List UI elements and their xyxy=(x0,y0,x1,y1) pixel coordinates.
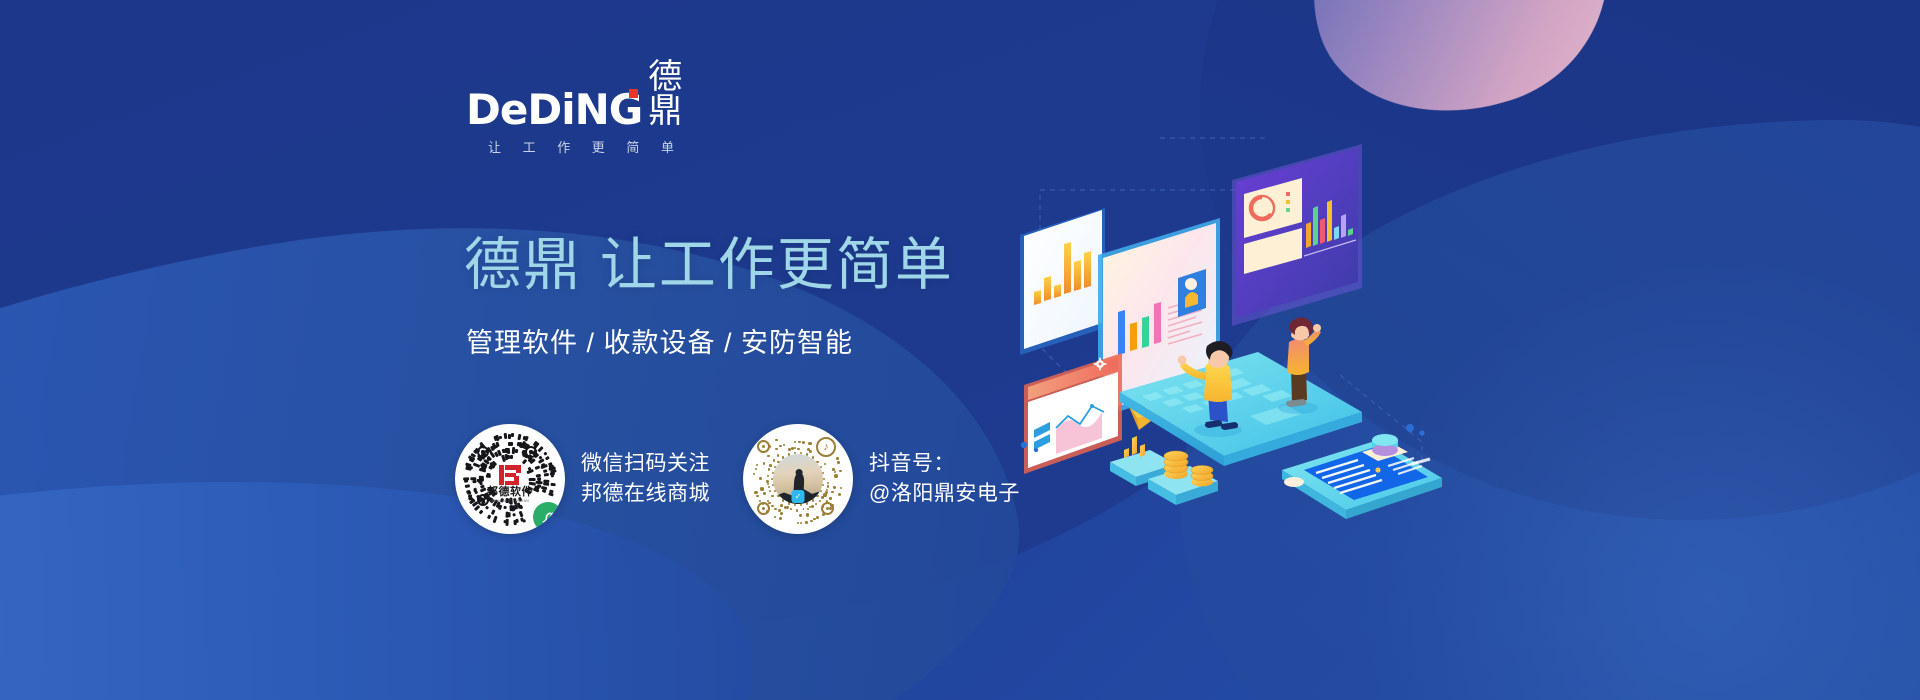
logo-chinese-text: 德鼎 xyxy=(648,60,696,130)
qr-dash xyxy=(486,505,490,509)
qr-dot xyxy=(754,491,757,494)
qr-dash xyxy=(543,452,547,456)
qr-dot xyxy=(755,468,757,470)
qr-dash xyxy=(551,474,554,477)
qr-dot xyxy=(780,504,783,507)
qr-dot xyxy=(811,505,814,508)
qr-finder-pattern xyxy=(525,446,537,458)
qr-dash xyxy=(499,435,502,439)
brand-logo: DeDiNG 德鼎 让 工 作 更 简 单 xyxy=(466,88,696,156)
qr-dot xyxy=(756,495,758,497)
qr-dot xyxy=(824,463,826,465)
qr-dot xyxy=(799,514,802,517)
qr-dot xyxy=(797,448,800,451)
qr-dot xyxy=(827,482,829,484)
qr-dot xyxy=(834,474,837,477)
qr-dot xyxy=(768,468,771,471)
qr-dot xyxy=(809,450,812,453)
qr-dash xyxy=(548,492,553,496)
qr-dot xyxy=(836,457,839,460)
qr-dot xyxy=(769,464,772,467)
qr-dot xyxy=(823,493,826,496)
qr-dot xyxy=(763,462,765,464)
qr-inner-dot xyxy=(823,478,826,481)
qr-code-group: 邦德软件 BANGDE RUANJIAN 微信扫码关注 邦德在线商城 ♪ xyxy=(455,424,1020,534)
qr-dot xyxy=(794,441,796,443)
qr-dot xyxy=(767,475,770,478)
qr-dash xyxy=(496,442,500,447)
qr-dash xyxy=(506,512,509,518)
qr-dash xyxy=(543,469,547,472)
qr-dot xyxy=(794,447,796,449)
qr-dot xyxy=(813,518,815,520)
qr-dot xyxy=(773,459,775,461)
qr-dot xyxy=(839,470,842,473)
douyin-note-icon: ♪ xyxy=(816,437,836,457)
qr-dot xyxy=(753,473,755,475)
qr-dot xyxy=(803,508,805,510)
qr-finder-pattern xyxy=(477,446,489,458)
qr-dot xyxy=(775,439,778,442)
qr-dash xyxy=(519,510,523,517)
qr-dot xyxy=(798,441,800,443)
bar-chart-card xyxy=(1020,208,1105,355)
qr-dot xyxy=(807,508,809,510)
qr-dot xyxy=(759,477,762,480)
qr-dot xyxy=(816,516,819,519)
qr-dot xyxy=(806,513,809,516)
qr-dot xyxy=(760,487,763,490)
qr-dot xyxy=(777,454,780,457)
qr-dash xyxy=(470,478,476,481)
wechat-caption-line1: 微信扫码关注 xyxy=(581,449,710,479)
qr-dot xyxy=(838,493,841,496)
qr-dot xyxy=(831,491,834,494)
qr-dot xyxy=(827,485,830,488)
qr-dash xyxy=(524,436,528,442)
qr-dash xyxy=(473,487,477,490)
promo-banner: DeDiNG 德鼎 让 工 作 更 简 单 德鼎 让工作更简单 管理软件 / 收… xyxy=(0,0,1920,700)
qr-dot xyxy=(790,508,792,510)
douyin-qr-caption: 抖音号： @洛阳鼎安电子 xyxy=(869,449,1020,509)
hero-headline: 德鼎 让工作更简单 xyxy=(464,237,954,294)
qr-dot xyxy=(783,444,785,446)
qr-dot xyxy=(771,505,774,508)
qr-dash xyxy=(522,459,527,465)
qr-dash xyxy=(487,514,491,519)
hero-subheadline: 管理软件 / 收款设备 / 安防智能 xyxy=(466,330,853,357)
qr-dot xyxy=(808,442,811,445)
qr-dot xyxy=(834,471,836,473)
qr-dot xyxy=(767,455,770,458)
hero-illustration xyxy=(1010,130,1450,530)
qr-dash xyxy=(510,441,513,445)
qr-dot xyxy=(805,521,808,524)
douyin-qr-code[interactable]: ♪ ✓ xyxy=(743,424,853,534)
qr-dash xyxy=(473,480,477,483)
qr-dot xyxy=(767,483,769,485)
qr-dot xyxy=(837,461,839,463)
qr-dot xyxy=(833,486,835,488)
qr-dot xyxy=(768,486,770,488)
bangde-logo-pinyin: BANGDE RUANJIAN xyxy=(481,500,539,503)
verified-badge-icon: ✓ xyxy=(792,490,805,503)
qr-finder-pattern xyxy=(757,440,770,453)
qr-dash xyxy=(515,448,518,453)
qr-dash xyxy=(542,489,546,493)
coin-pile-left xyxy=(1164,451,1188,479)
qr-dash xyxy=(541,464,548,469)
qr-dot xyxy=(774,508,776,510)
qr-block-douyin[interactable]: ♪ ✓ 抖音号： @洛阳鼎安电子 xyxy=(743,424,1020,534)
qr-dash xyxy=(513,513,516,517)
logo-red-dot xyxy=(629,89,638,98)
douyin-caption-line2: @洛阳鼎安电子 xyxy=(869,479,1020,509)
qr-dot xyxy=(767,500,769,502)
purple-analytics-screen xyxy=(1232,144,1362,326)
qr-dash xyxy=(514,519,517,524)
wechat-miniprogram-icon xyxy=(533,502,563,532)
qr-dot xyxy=(779,517,782,520)
qr-dot xyxy=(769,490,771,492)
qr-dot xyxy=(775,448,778,451)
qr-dot xyxy=(840,487,842,489)
qr-dash xyxy=(510,504,513,510)
qr-dash xyxy=(506,448,509,454)
qr-dash xyxy=(491,509,495,514)
wechat-qr-center-logo: 邦德软件 BANGDE RUANJIAN xyxy=(481,465,539,503)
qr-dash xyxy=(493,516,498,523)
qr-dash xyxy=(463,478,469,481)
qr-dot xyxy=(810,520,813,523)
coin-pile-right xyxy=(1191,466,1213,487)
qr-dash xyxy=(537,445,543,451)
line-chart-card xyxy=(1024,353,1122,474)
bangde-logo-text: 邦德软件 xyxy=(481,487,539,498)
qr-dot xyxy=(802,441,805,444)
qr-dot xyxy=(766,480,769,483)
qr-dash xyxy=(551,483,556,486)
qr-dash xyxy=(503,432,506,438)
qr-dash xyxy=(504,506,507,509)
qr-dash xyxy=(510,455,513,459)
logo-wordmark: DeDiNG xyxy=(466,90,642,130)
douyin-avatar-photo: ✓ xyxy=(773,454,823,504)
qr-dot xyxy=(797,522,799,524)
qr-dot xyxy=(756,464,759,467)
qr-dot xyxy=(763,492,766,495)
qr-dot xyxy=(800,522,802,524)
qr-dot xyxy=(829,497,832,500)
qr-dash xyxy=(545,455,550,459)
qr-dot xyxy=(780,512,783,515)
bangde-b-mark xyxy=(499,465,522,485)
logo-tagline: 让 工 作 更 简 单 xyxy=(466,137,696,156)
qr-dash xyxy=(511,433,514,437)
qr-dash xyxy=(543,482,549,485)
qr-dash xyxy=(518,434,522,440)
qr-block-wechat[interactable]: 邦德软件 BANGDE RUANJIAN 微信扫码关注 邦德在线商城 xyxy=(455,424,710,534)
qr-dash xyxy=(478,510,483,515)
logo-latin-text: DeDiNG xyxy=(466,89,642,131)
qr-dash xyxy=(466,490,470,494)
qr-dash xyxy=(544,473,549,476)
wechat-qr-caption: 微信扫码关注 邦德在线商城 xyxy=(581,449,710,509)
wechat-caption-line2: 邦德在线商城 xyxy=(581,479,710,509)
qr-dot xyxy=(774,516,776,518)
qr-dash xyxy=(508,512,511,517)
qr-dash xyxy=(464,484,469,487)
qr-dot xyxy=(779,445,782,448)
qr-finder-pattern xyxy=(757,502,770,515)
qr-dot xyxy=(796,509,799,512)
tablet-device xyxy=(1282,434,1442,519)
douyin-caption-line1: 抖音号： xyxy=(869,449,1020,479)
qr-dot xyxy=(784,506,787,509)
wechat-qr-code[interactable]: 邦德软件 BANGDE RUANJIAN xyxy=(455,424,565,534)
